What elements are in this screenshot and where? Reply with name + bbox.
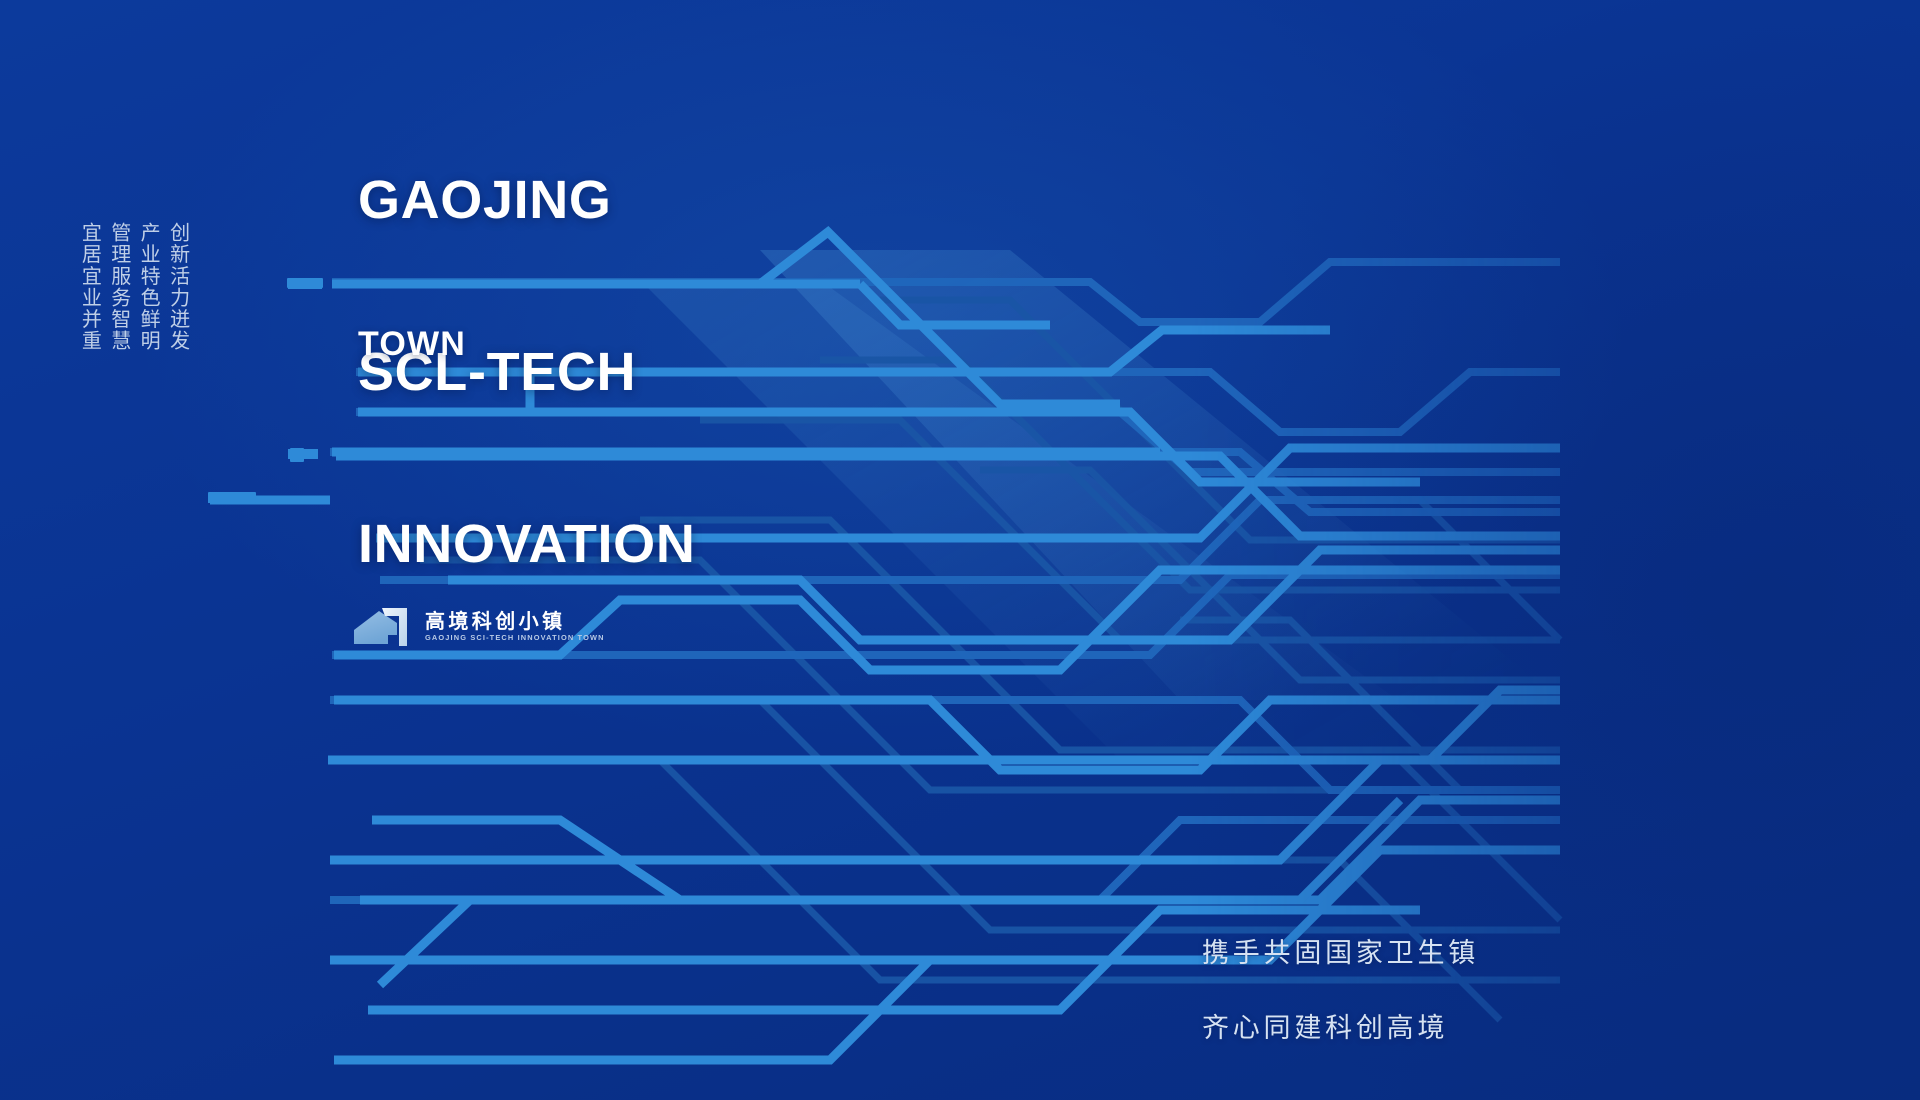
headline-line-3: INNOVATION	[358, 516, 695, 573]
circuit-line-artwork	[0, 0, 1920, 1100]
house-building-icon	[352, 604, 414, 650]
vertical-slogan-line-3: 管理服务智慧	[107, 222, 129, 352]
banner-canvas: 创新活力迸发 产业特色鲜明 管理服务智慧 宜居宜业并重 GAOJING SCL-…	[0, 0, 1920, 1100]
vertical-slogan-line-1: 创新活力迸发	[166, 222, 188, 352]
bottom-slogan-line-2: 齐心同建科创高境	[1202, 1010, 1479, 1047]
bottom-slogan-line-1: 携手共固国家卫生镇	[1202, 935, 1479, 972]
logo-text-block: 高境科创小镇 GAOJING SCI-TECH INNOVATION TOWN	[425, 612, 605, 641]
headline: GAOJING SCL-TECH INNOVATION	[358, 58, 695, 688]
headline-town-word: TOWN	[358, 325, 466, 364]
logo-chinese-name: 高境科创小镇	[425, 612, 605, 632]
logo-english-name: GAOJING SCI-TECH INNOVATION TOWN	[425, 634, 605, 641]
vertical-slogan-line-2: 产业特色鲜明	[137, 222, 159, 352]
headline-line-1: GAOJING	[358, 172, 695, 229]
bottom-slogan: 携手共固国家卫生镇 齐心同建科创高境	[1202, 898, 1479, 1084]
logo-lockup: 高境科创小镇 GAOJING SCI-TECH INNOVATION TOWN	[352, 604, 605, 650]
vertical-slogan-line-4: 宜居宜业并重	[78, 222, 100, 352]
vertical-slogan: 创新活力迸发 产业特色鲜明 管理服务智慧 宜居宜业并重	[78, 222, 189, 352]
